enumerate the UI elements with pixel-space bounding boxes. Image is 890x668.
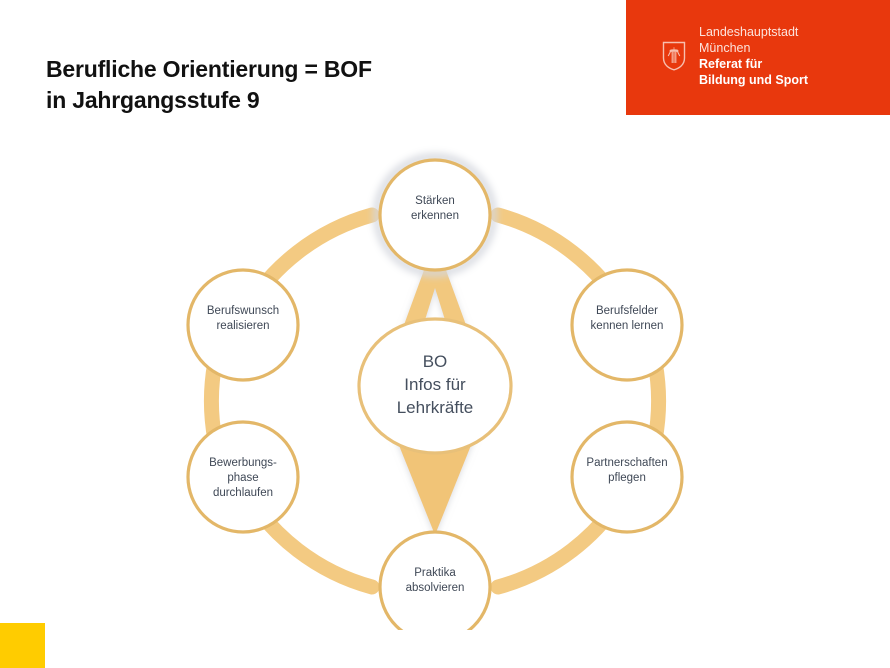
page-title: Berufliche Orientierung = BOF in Jahrgan… bbox=[46, 54, 372, 116]
logo-line-referat: Referat für bbox=[699, 56, 808, 72]
node-circle-berufswunsch-realisieren[interactable] bbox=[188, 270, 298, 380]
node-circle-praktika-absolvieren[interactable] bbox=[380, 532, 490, 630]
municipal-logo-banner: Landeshauptstadt München Referat für Bil… bbox=[626, 0, 890, 115]
node-circle-center[interactable] bbox=[359, 319, 511, 453]
logo-line-muenchen: München bbox=[699, 40, 808, 56]
node-circle-staerken-erkennen[interactable] bbox=[380, 160, 490, 270]
node-circle-bewerbungsphase[interactable] bbox=[188, 422, 298, 532]
node-circle-berufsfelder-kennen[interactable] bbox=[572, 270, 682, 380]
decorative-yellow-square bbox=[0, 623, 45, 668]
logo-text-block: Landeshauptstadt München Referat für Bil… bbox=[699, 24, 808, 88]
logo-line-bildung-sport: Bildung und Sport bbox=[699, 72, 808, 88]
bo-cycle-diagram: Stärken erkennen Berufsfelder kennen ler… bbox=[150, 140, 720, 630]
node-circle-partnerschaften-pflegen[interactable] bbox=[572, 422, 682, 532]
munich-coat-of-arms-icon bbox=[662, 41, 686, 71]
logo-line-landeshauptstadt: Landeshauptstadt bbox=[699, 24, 808, 40]
